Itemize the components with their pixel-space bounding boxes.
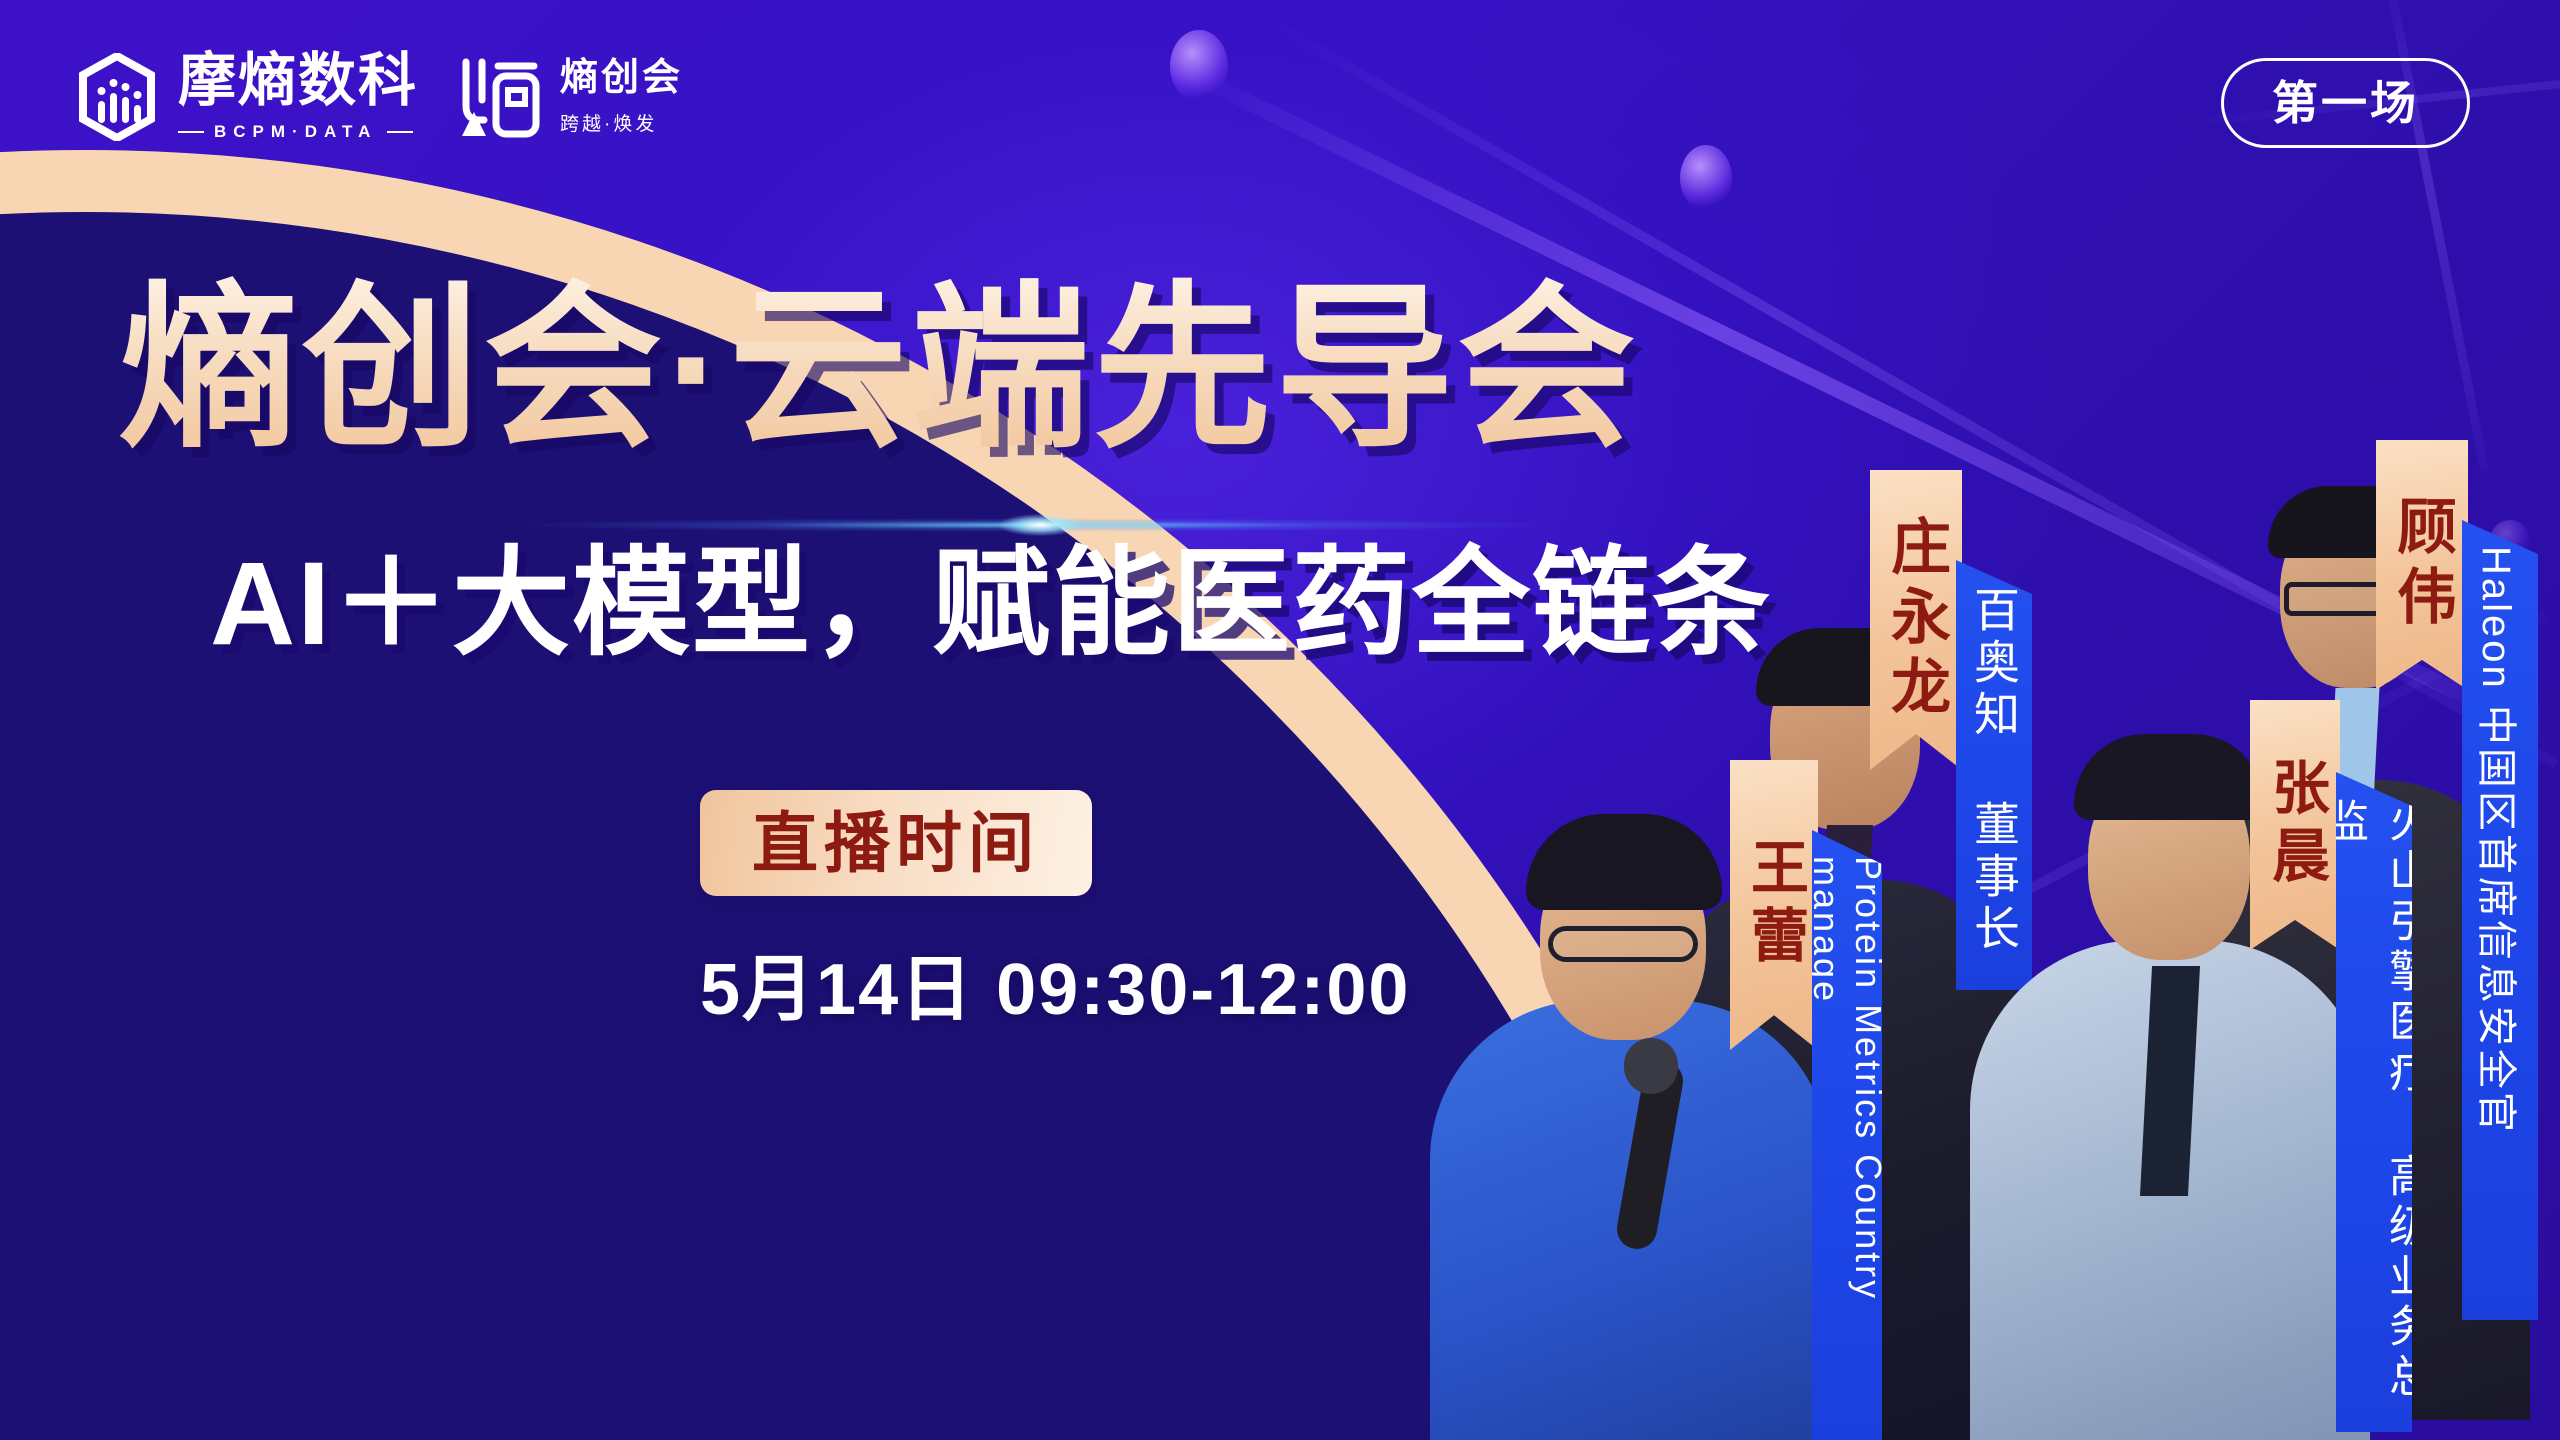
shang-mark-icon xyxy=(458,54,542,140)
speaker-name-plaque: 庄永龙 xyxy=(1870,470,1962,770)
session-badge[interactable]: 第一场 xyxy=(2221,58,2470,148)
primary-logo-tagline-text: BCPM·DATA xyxy=(214,122,377,142)
live-time-label: 直播时间 xyxy=(700,790,1092,896)
header-logos: 摩熵数科 BCPM·DATA 熵创会 xyxy=(78,52,683,142)
tagline-rule-left xyxy=(178,131,204,133)
hexagon-chart-icon xyxy=(78,53,156,141)
speaker-card-2: 张晨 火山引擎医疗 高级业务总监 xyxy=(1950,700,2420,1440)
speaker-card-0: 王蕾 Protein Metrics Country manage xyxy=(1400,760,1880,1440)
bokeh-dot-icon xyxy=(1680,145,1732,211)
tagline-rule-right xyxy=(387,131,413,133)
page-title: 熵创会·云端先导会 xyxy=(120,276,1880,463)
promo-banner: 摩熵数科 BCPM·DATA 熵创会 xyxy=(0,0,2560,1440)
speaker-name-plaque: 张晨 xyxy=(2250,700,2340,950)
speaker-title-ribbon: Haleon 中国区首席信息安全官 xyxy=(2462,520,2538,1320)
speaker-name-plaque: 王蕾 xyxy=(1730,760,1818,1050)
secondary-logo-tagline: 跨越·焕发 xyxy=(560,109,683,136)
primary-logo-name: 摩熵数科 xyxy=(178,52,418,110)
secondary-logo[interactable]: 熵创会 跨越·焕发 xyxy=(458,54,683,140)
page-subtitle: AI＋大模型，赋能医药全链条 xyxy=(210,540,1772,670)
speaker-name-plaque: 顾伟 xyxy=(2376,440,2468,690)
primary-logo-tagline: BCPM·DATA xyxy=(178,122,418,142)
primary-logo[interactable]: 摩熵数科 BCPM·DATA xyxy=(78,52,418,142)
bokeh-dot-icon xyxy=(1170,30,1228,102)
speaker-title-ribbon: Protein Metrics Country manage xyxy=(1812,830,1882,1440)
speaker-title-ribbon: 火山引擎医疗 高级业务总监 xyxy=(2336,772,2412,1432)
secondary-logo-name: 熵创会 xyxy=(560,59,683,97)
live-time-value: 5月14日 09:30-12:00 xyxy=(700,930,1410,1035)
